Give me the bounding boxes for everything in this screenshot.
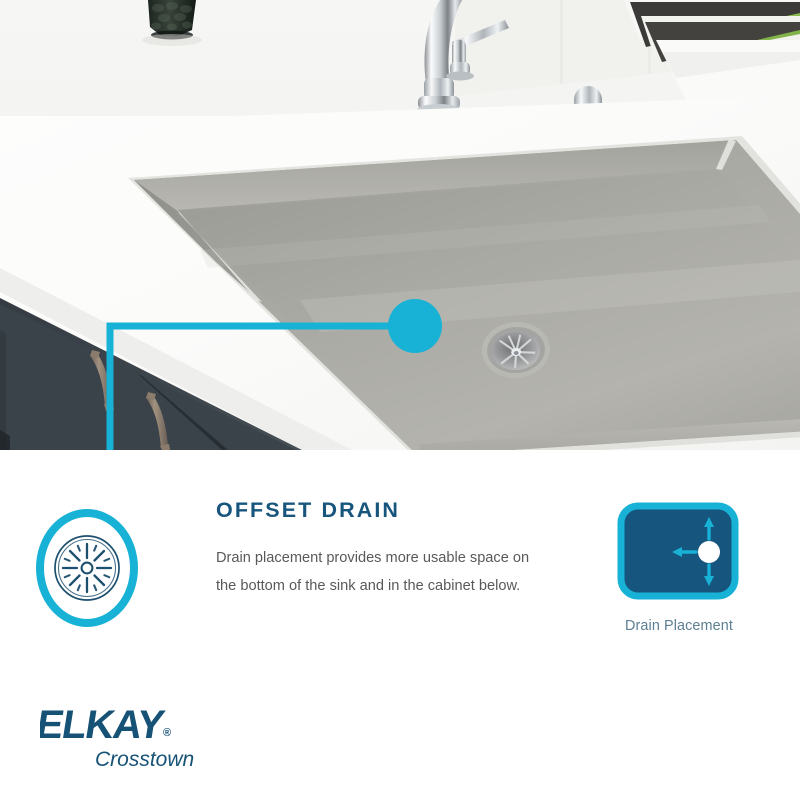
brand-logo: ELKAY ® Crosstown xyxy=(40,706,280,776)
drain-placement-badge: Drain Placement xyxy=(616,502,742,634)
badge-caption: Drain Placement xyxy=(616,618,742,634)
page-title: OFFSET DRAIN xyxy=(216,500,546,522)
brand-collection: Crosstown xyxy=(95,748,194,771)
feature-text-block: OFFSET DRAIN Drain placement provides mo… xyxy=(216,500,546,601)
infographic-page: OFFSET DRAIN Drain placement provides mo… xyxy=(0,0,800,800)
drain-strainer-icon xyxy=(33,506,141,628)
feature-description: Drain placement provides more usable spa… xyxy=(216,544,546,601)
brand-registered-mark: ® xyxy=(163,727,171,739)
drain-placement-icon xyxy=(616,502,740,602)
product-photo xyxy=(0,0,800,450)
drain-dot xyxy=(698,541,720,563)
brand-name: ELKAY xyxy=(40,706,168,747)
